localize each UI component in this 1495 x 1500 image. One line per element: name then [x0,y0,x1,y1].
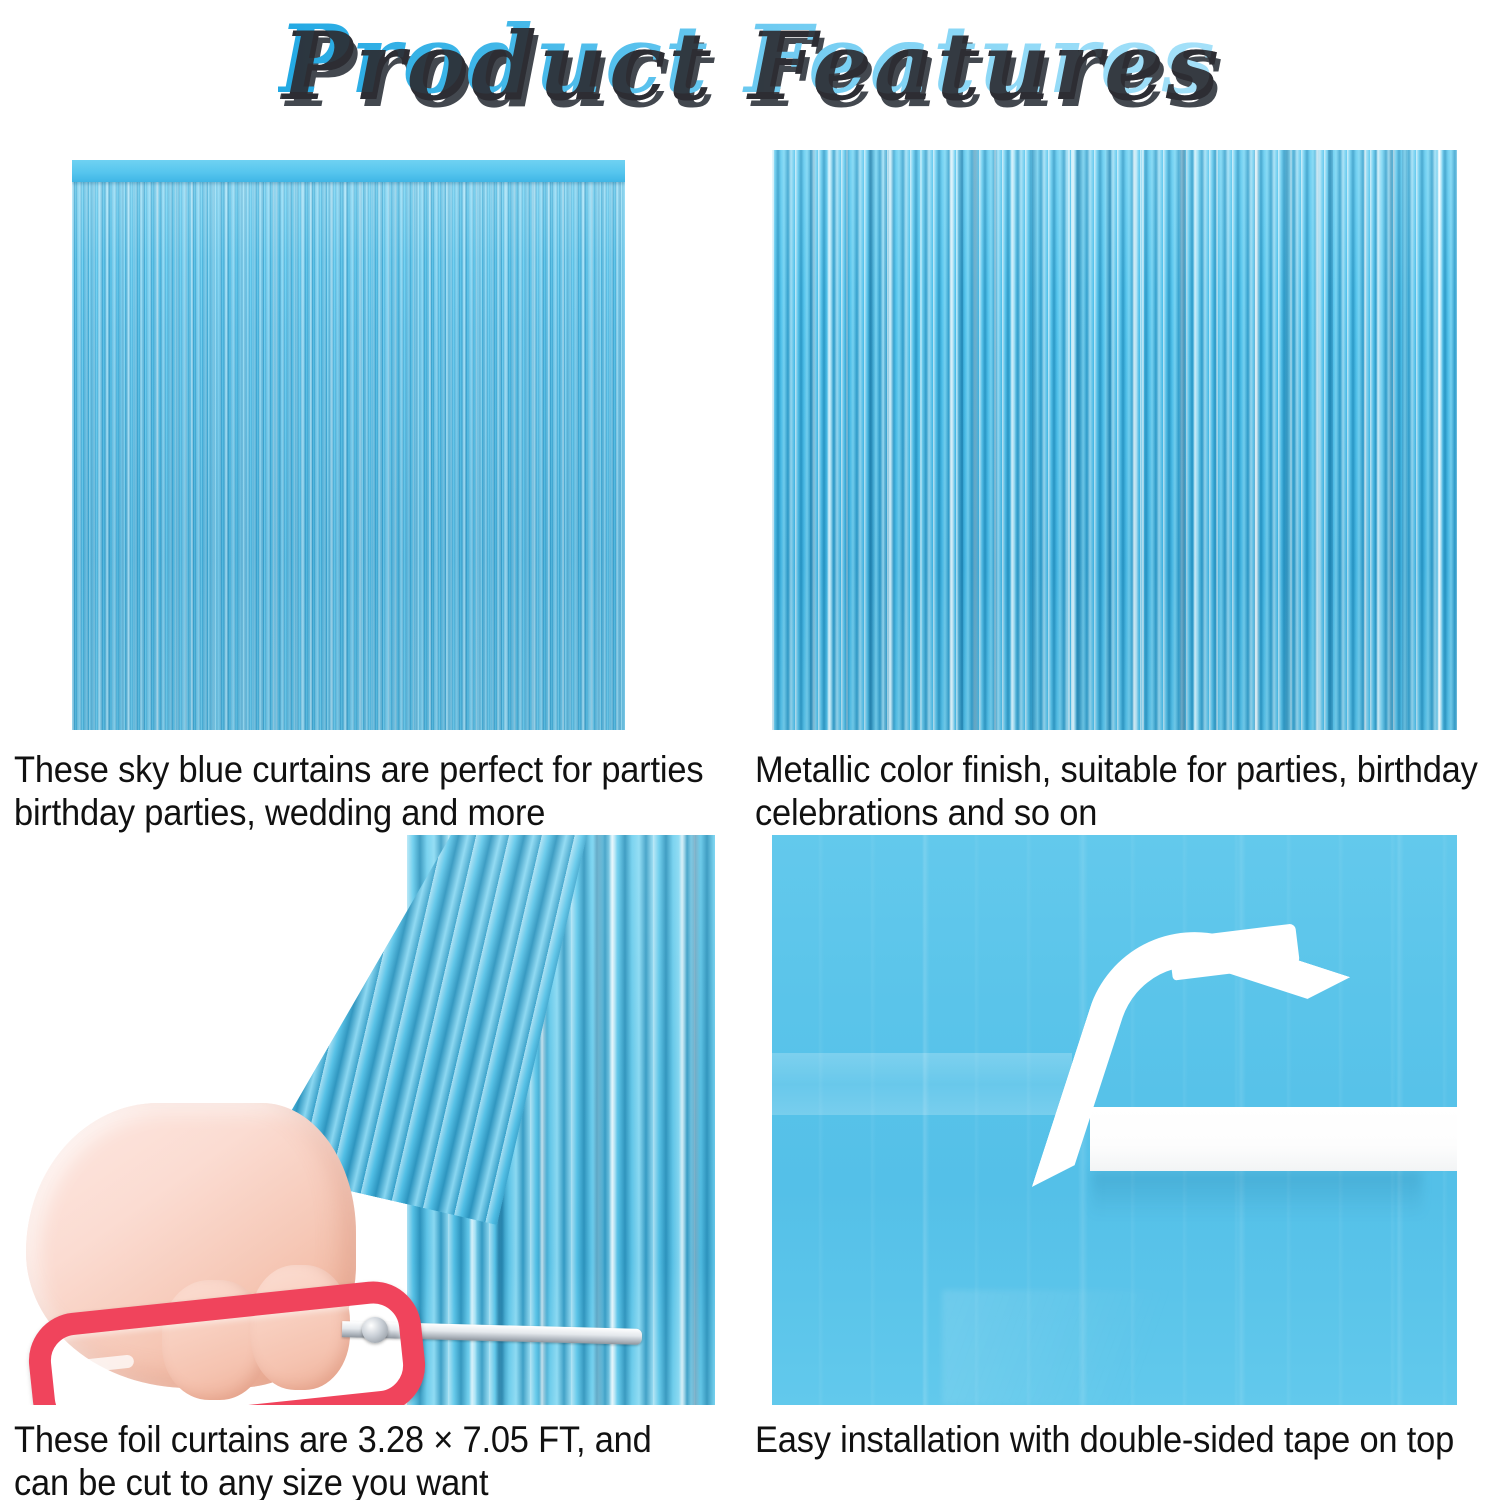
sheet-seam [772,1053,1072,1115]
fringe-texture [72,160,625,730]
product-image-metallic-fringe-closeup [772,150,1457,730]
product-image-cutting-demo [12,835,715,1405]
caption-panel-1: These sky blue curtains are perfect for … [14,748,749,834]
product-image-double-sided-tape [772,835,1457,1405]
page-title-container: Product Features [0,0,1495,120]
sheet-wrinkle [942,1290,1322,1405]
caption-panel-3: These foil curtains are 3.28 × 7.05 FT, … [14,1418,749,1500]
page-title: Product Features [278,10,1217,110]
metallic-fringe-texture [772,150,1457,730]
caption-panel-2: Metallic color finish, suitable for part… [755,748,1495,834]
caption-panel-4: Easy installation with double-sided tape… [755,1418,1495,1461]
curtain-header-band [72,160,625,182]
product-image-sky-blue-fringe-curtain [72,160,625,730]
product-features-infographic: Product Features These sky blue curtains… [0,0,1495,1500]
